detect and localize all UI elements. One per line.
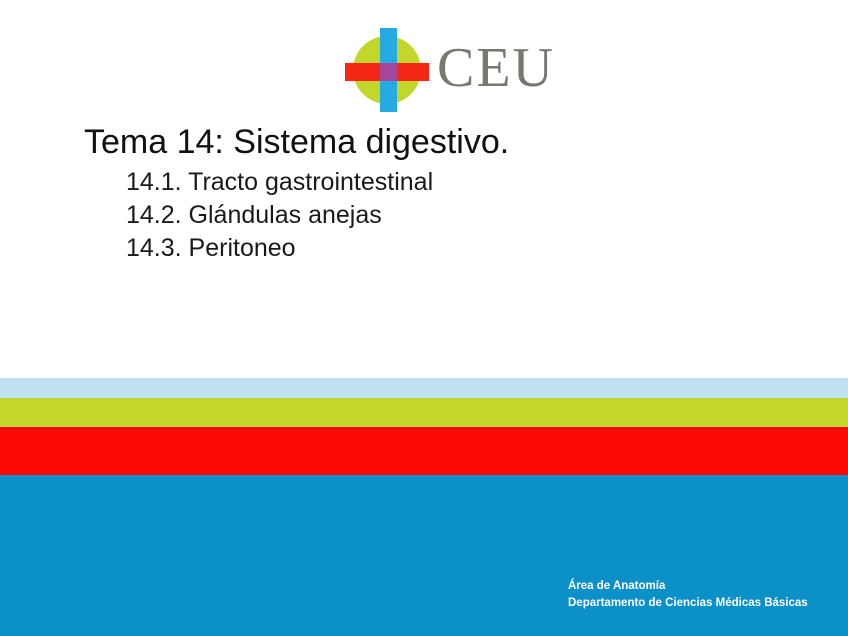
title-block: Tema 14: Sistema digestivo. 14.1. Tracto…	[84, 122, 784, 265]
presentation-slide: CEU Tema 14: Sistema digestivo. 14.1. Tr…	[0, 0, 848, 636]
band-red	[0, 427, 848, 475]
outline-item-1: 14.1. Tracto gastrointestinal	[126, 166, 784, 199]
slide-outline-list: 14.1. Tracto gastrointestinal 14.2. Glán…	[84, 166, 784, 265]
ceu-logo: CEU	[345, 28, 520, 112]
slide-title: Tema 14: Sistema digestivo.	[84, 122, 784, 162]
footer-department-line: Departamento de Ciencias Médicas Básicas	[568, 595, 808, 612]
ceu-wordmark: CEU	[437, 40, 555, 96]
footer-area-line: Área de Anatomía	[568, 578, 808, 595]
ceu-cross-circle-icon	[345, 28, 429, 112]
outline-item-3: 14.3. Peritoneo	[126, 232, 784, 265]
slide-footer: Área de Anatomía Departamento de Ciencia…	[568, 578, 808, 612]
outline-item-2: 14.2. Glándulas anejas	[126, 199, 784, 232]
band-light-blue	[0, 378, 848, 398]
logo-intersection-shape	[380, 63, 397, 81]
band-green	[0, 398, 848, 427]
